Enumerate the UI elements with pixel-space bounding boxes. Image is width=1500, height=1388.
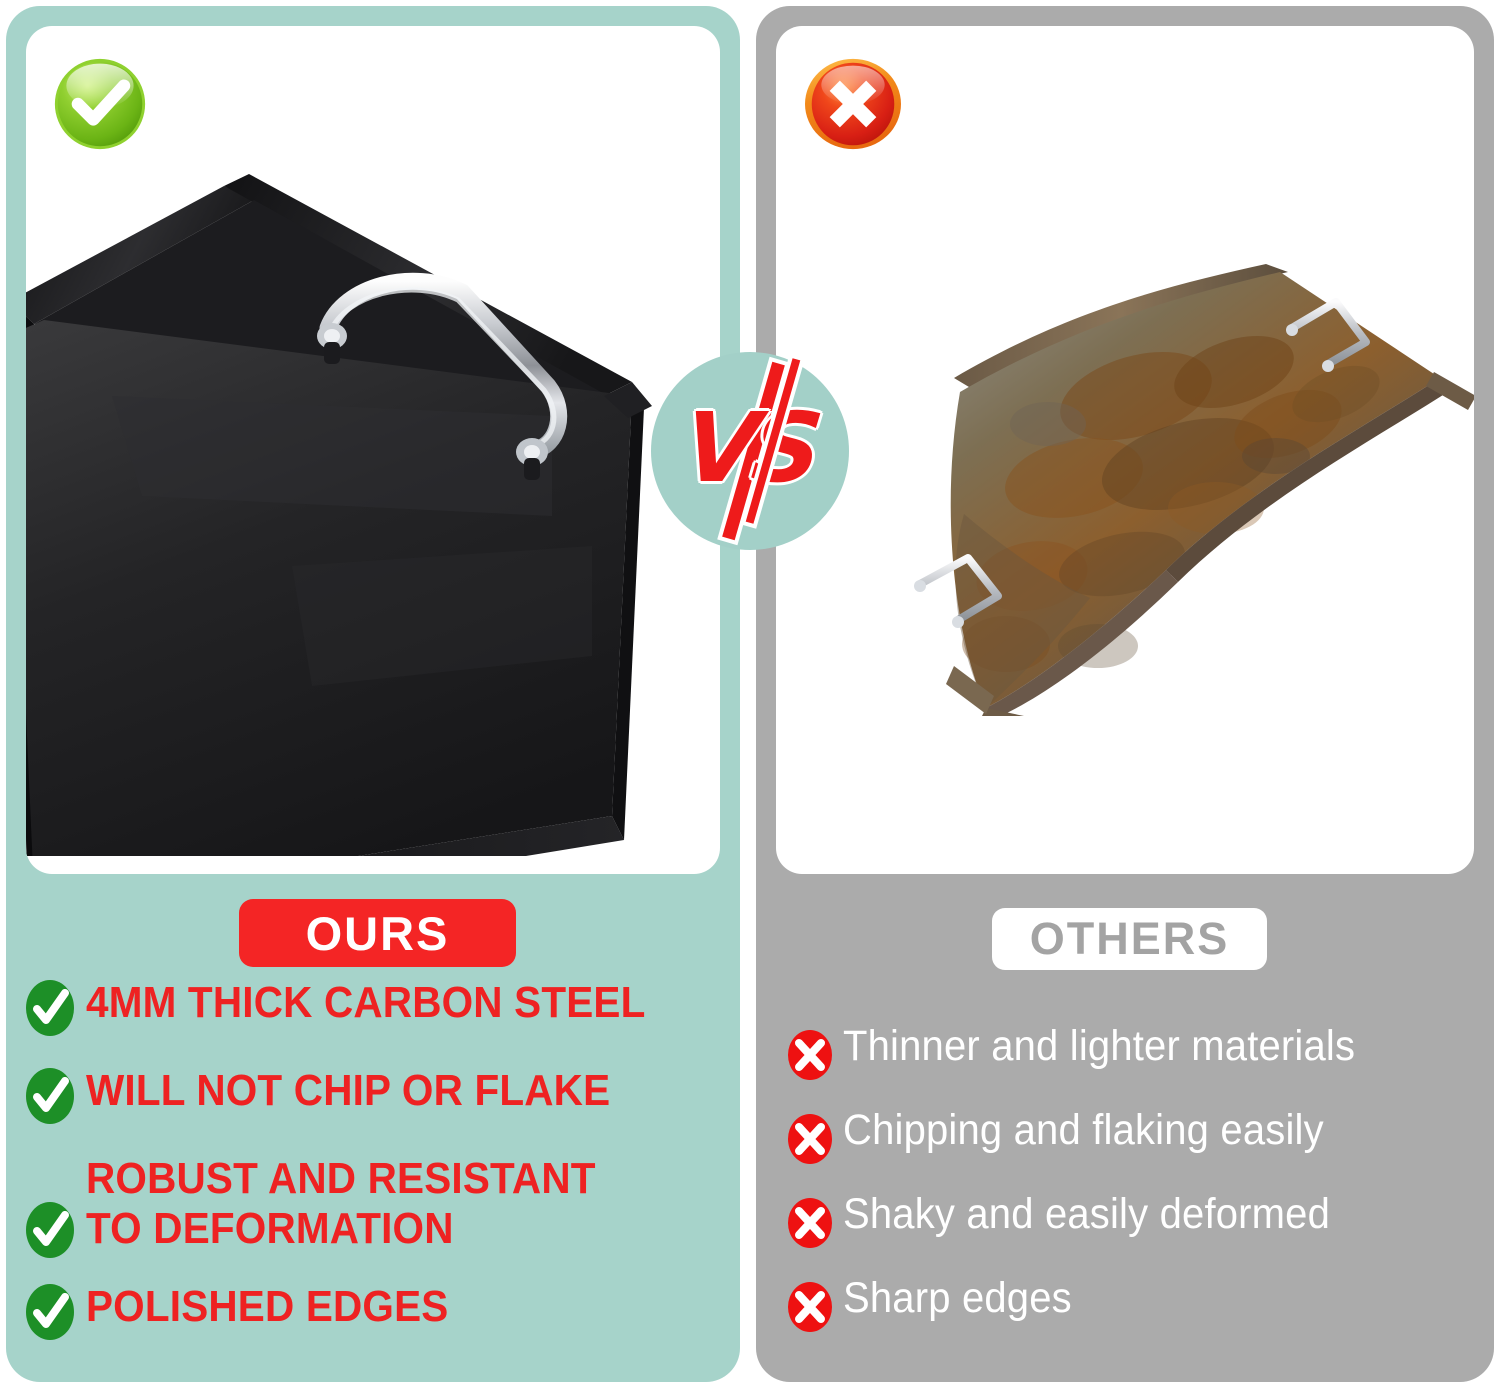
- green-check-icon: [24, 1282, 76, 1342]
- ours-feature-text: WILL NOT CHIP OR FLAKE: [86, 1066, 610, 1116]
- ours-product-image: [26, 96, 692, 856]
- red-x-icon: [786, 1196, 834, 1250]
- list-item: Shaky and easily deformed: [786, 1190, 1486, 1250]
- comparison-infographic: OURS 4MM THICK CARBON STEEL WILL NOT CHI…: [0, 0, 1500, 1388]
- others-panel: OTHERS Thinner and lighter materials Chi…: [756, 6, 1494, 1382]
- list-item: ROBUST AND RESISTANT TO DEFORMATION: [24, 1154, 734, 1260]
- vs-badge: VS: [651, 352, 849, 550]
- ours-title-badge: OURS: [239, 899, 516, 967]
- green-check-icon: [24, 978, 76, 1038]
- green-check-circle-icon: [52, 56, 148, 152]
- ours-feature-text: ROBUST AND RESISTANT TO DEFORMATION: [86, 1154, 596, 1254]
- list-item: POLISHED EDGES: [24, 1282, 734, 1342]
- ours-feature-list: 4MM THICK CARBON STEEL WILL NOT CHIP OR …: [24, 978, 734, 1342]
- list-item: Thinner and lighter materials: [786, 1022, 1486, 1082]
- green-check-icon: [24, 1200, 76, 1260]
- red-x-icon: [786, 1280, 834, 1334]
- list-item: Chipping and flaking easily: [786, 1106, 1486, 1166]
- others-feature-text: Chipping and flaking easily: [843, 1106, 1324, 1154]
- ours-feature-text: POLISHED EDGES: [86, 1282, 448, 1332]
- others-feature-text: Sharp edges: [843, 1274, 1072, 1322]
- others-title-badge: OTHERS: [992, 908, 1267, 970]
- list-item: 4MM THICK CARBON STEEL: [24, 978, 734, 1038]
- ours-product-card: [26, 26, 720, 874]
- list-item: WILL NOT CHIP OR FLAKE: [24, 1066, 734, 1126]
- others-feature-list: Thinner and lighter materials Chipping a…: [786, 1022, 1486, 1334]
- others-feature-text: Thinner and lighter materials: [843, 1022, 1355, 1070]
- ours-feature-text: 4MM THICK CARBON STEEL: [86, 978, 646, 1028]
- red-x-icon: [786, 1028, 834, 1082]
- red-x-circle-icon: [802, 56, 904, 152]
- list-item: Sharp edges: [786, 1274, 1486, 1334]
- others-product-card: [776, 26, 1474, 874]
- green-check-icon: [24, 1066, 76, 1126]
- others-feature-text: Shaky and easily deformed: [843, 1190, 1330, 1238]
- red-x-icon: [786, 1112, 834, 1166]
- others-product-image: [836, 246, 1474, 716]
- ours-panel: OURS 4MM THICK CARBON STEEL WILL NOT CHI…: [6, 6, 740, 1382]
